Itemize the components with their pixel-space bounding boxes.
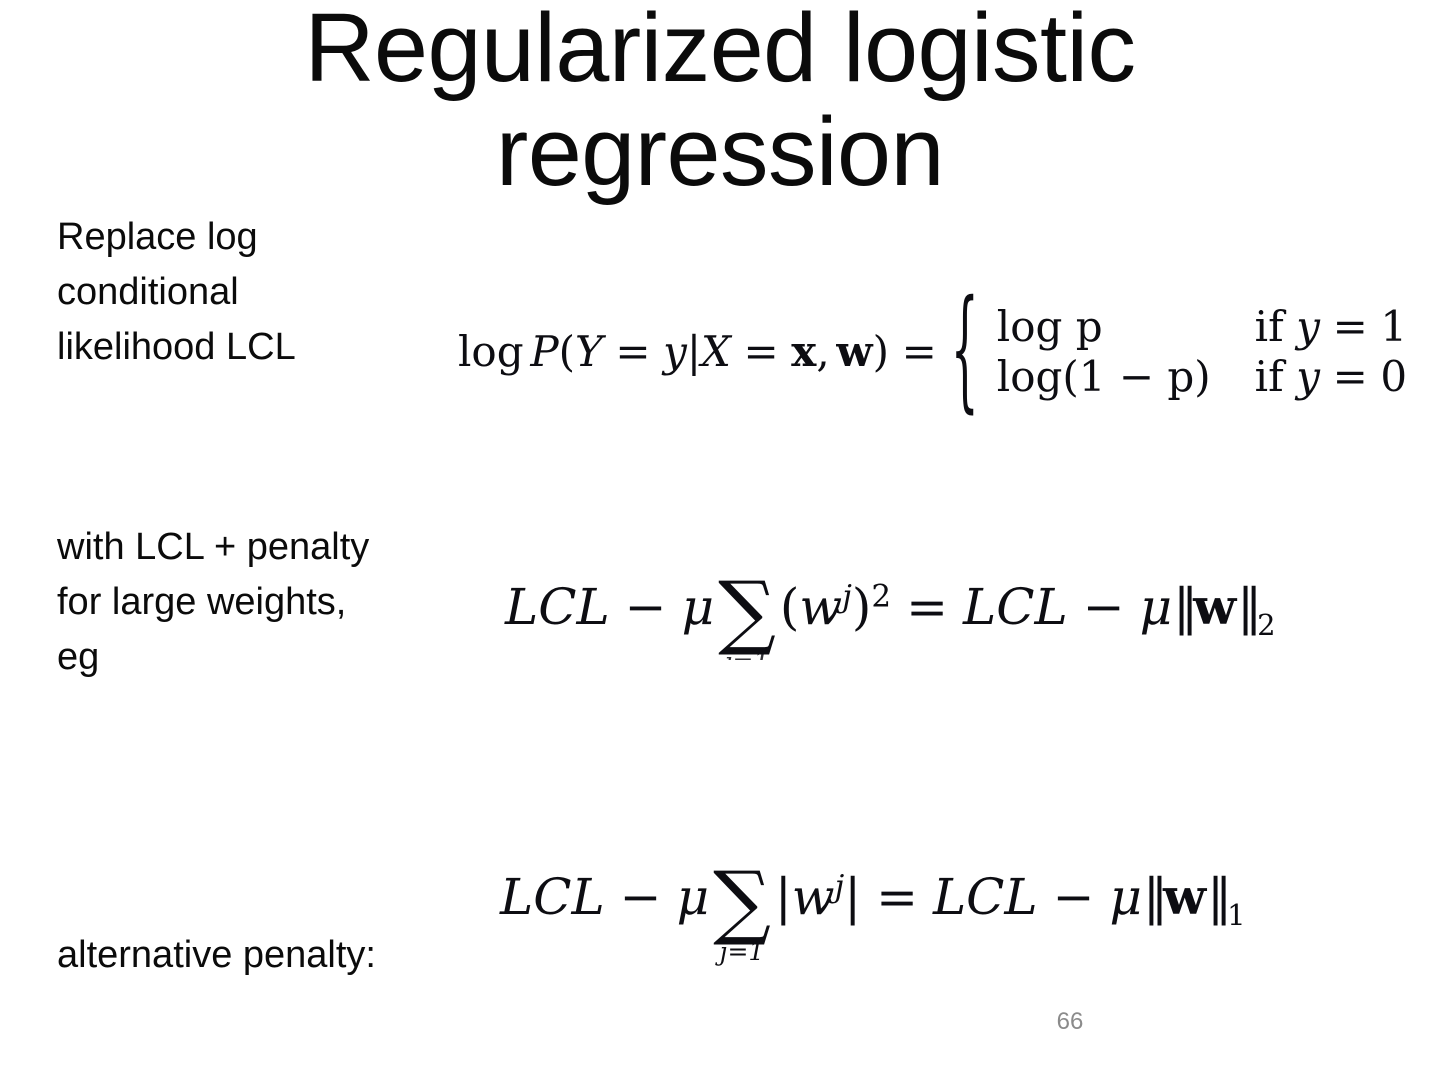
sigma-glyph: ∑ — [718, 578, 776, 648]
equation-1-lhs: logP(Y=y|X=x,w)= — [458, 331, 947, 373]
close-paren: ) — [873, 327, 889, 376]
cases-brace: { — [951, 286, 979, 418]
lcl-term-lhs: LCL — [500, 868, 605, 926]
weight-w: w — [792, 868, 835, 926]
norm-bar-close: ‖ — [1237, 582, 1256, 632]
equation-conditional-likelihood: logP(Y=y|X=x,w)= { log p ify=1 log(1 − p… — [458, 306, 1407, 398]
weight-w: w — [799, 578, 842, 636]
case-1-value: log p — [997, 306, 1211, 348]
minus-sign-rhs: − — [1083, 578, 1125, 636]
equals-sign: = — [906, 578, 948, 636]
norm-bar-close: ‖ — [1207, 872, 1226, 922]
open-paren: ( — [780, 578, 800, 636]
minus-sign: − — [620, 868, 662, 926]
value-y: y — [663, 327, 687, 376]
vector-x: x — [791, 327, 816, 376]
body-text-replace: Replace log conditional likelihood LCL — [57, 210, 457, 375]
vector-w-rhs: w — [1163, 867, 1206, 926]
norm-subscript-2: 2 — [1257, 608, 1275, 642]
lcl-term-rhs: LCL — [933, 868, 1038, 926]
vector-w-rhs: w — [1193, 577, 1236, 636]
lcl-term-lhs: LCL — [505, 578, 610, 636]
case-2-value: log(1 − p) — [997, 356, 1211, 398]
summation-operator: ∑j=1 — [718, 578, 776, 660]
mu-symbol: μ — [682, 578, 715, 636]
summation-operator: ∑j=1 — [713, 868, 771, 964]
mu-symbol-rhs: μ — [1140, 578, 1173, 636]
cases-block: log p ify=1 log(1 − p) ify=0 — [997, 306, 1407, 398]
sum-lower-limit: j=1 — [725, 649, 770, 660]
body-text-alternative-penalty: alternative penalty: — [57, 928, 517, 983]
minus-sign: − — [625, 578, 667, 636]
comma: , — [816, 327, 829, 376]
equals-sign: = — [876, 868, 918, 926]
abs-bar-open: | — [775, 868, 792, 926]
norm-bar-open: ‖ — [1143, 872, 1162, 922]
close-paren: ) — [852, 578, 872, 636]
equation-l1-penalty: LCL−μ∑j=1|wj|=LCL−μ‖w‖1 — [500, 868, 1246, 964]
equals-sign-3: = — [902, 327, 937, 376]
body-text-with-penalty: with LCL + penalty for large weights, eg — [57, 520, 477, 685]
mu-symbol: μ — [677, 868, 710, 926]
weight-superscript-j: j — [842, 578, 852, 614]
norm-bar-open: ‖ — [1173, 582, 1192, 632]
sigma-glyph: ∑ — [713, 868, 771, 938]
case-1-condition: ify=1 — [1255, 306, 1407, 348]
sum-lower-limit: j=1 — [720, 939, 765, 964]
slide-canvas: Regularized logistic regression Replace … — [0, 0, 1440, 1080]
conditional-bar: | — [687, 327, 701, 376]
weight-superscript-j: j — [835, 868, 845, 904]
abs-bar-close: | — [844, 868, 861, 926]
equals-sign-1: = — [615, 327, 650, 376]
random-var-X: X — [701, 327, 731, 376]
case-2-condition: ify=0 — [1255, 356, 1407, 398]
mu-symbol-rhs: μ — [1110, 868, 1143, 926]
equals-sign-2: = — [744, 327, 779, 376]
lcl-term-rhs: LCL — [963, 578, 1068, 636]
log-operator: log — [458, 327, 524, 376]
norm-subscript-1: 1 — [1227, 898, 1245, 932]
exponent-two: 2 — [871, 578, 891, 614]
page-title: Regularized logistic regression — [0, 0, 1440, 204]
vector-w: w — [836, 327, 872, 376]
prob-symbol: P — [530, 327, 558, 376]
minus-sign-rhs: − — [1053, 868, 1095, 926]
equation-l2-penalty: LCL−μ∑j=1(wj)2=LCL−μ‖w‖2 — [505, 578, 1276, 660]
open-paren: ( — [559, 327, 575, 376]
page-number: 66 — [1040, 1008, 1100, 1036]
random-var-Y: Y — [575, 327, 603, 376]
